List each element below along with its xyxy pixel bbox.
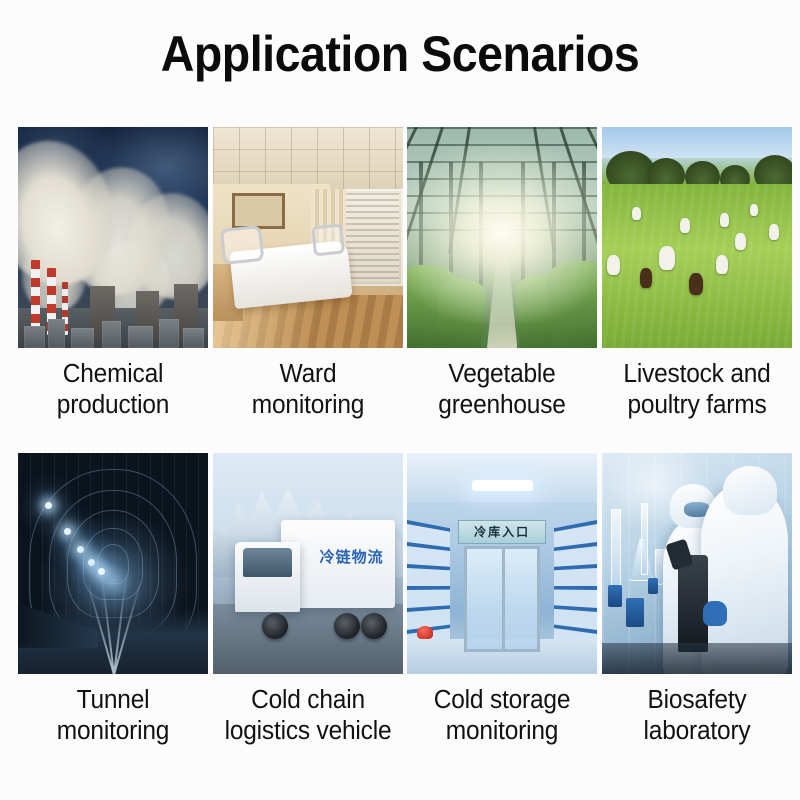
alarm-light [417, 626, 433, 639]
pasture-grass [602, 184, 792, 348]
caption-line-1: Cold chain [216, 685, 398, 716]
cow [607, 255, 620, 275]
scenario-caption: Vegetable greenhouse [411, 359, 593, 421]
truck-body-text: 冷链物流 [320, 546, 384, 567]
glass-tube [641, 503, 648, 575]
cow [680, 218, 690, 233]
caption-line-1: Cold storage [411, 685, 593, 716]
scenario-card-vegetable-greenhouse[interactable]: Vegetable greenhouse [407, 127, 597, 421]
scenario-caption: Tunnel monitoring [22, 685, 204, 747]
protective-hood-front [723, 466, 776, 515]
caption-line-1: Ward [216, 359, 398, 390]
caption-line-2: monitoring [216, 390, 398, 421]
scenario-card-cold-chain-logistics-vehicle[interactable]: 冷链物流 Cold chain logistics vehicle [213, 453, 403, 747]
cow [735, 233, 746, 250]
entrance-sign: 冷库入口 [458, 520, 545, 544]
building [102, 321, 121, 348]
blue-reagent-box [626, 598, 644, 627]
windshield [243, 548, 292, 577]
building [128, 326, 153, 348]
light-glow [407, 143, 597, 323]
caption-line-2: greenhouse [411, 390, 593, 421]
scenario-caption: Livestock and poultry farms [606, 359, 788, 421]
building [24, 326, 45, 348]
lab-bench [602, 643, 792, 674]
scenario-image-cold-storage-monitoring: 冷库入口 [407, 453, 597, 674]
scenario-image-tunnel-monitoring [18, 453, 208, 674]
caption-line-1: Vegetable [411, 359, 593, 390]
building [71, 328, 94, 348]
cow [632, 207, 641, 220]
truck-wheel [361, 613, 387, 639]
ceiling [213, 127, 403, 193]
building [159, 319, 180, 348]
caption-line-2: laboratory [606, 716, 788, 747]
scenario-card-biosafety-laboratory[interactable]: Biosafety laboratory [602, 453, 792, 747]
tunnel-lamp [77, 546, 84, 553]
glove [703, 601, 728, 625]
scenario-image-chemical-production [18, 127, 208, 348]
smokestack [31, 260, 40, 335]
building [183, 328, 204, 348]
glass-doors [464, 546, 540, 652]
caption-line-2: logistics vehicle [216, 716, 398, 747]
tunnel-lamp [45, 502, 52, 509]
scenario-image-biosafety-laboratory [602, 453, 792, 674]
scenario-image-vegetable-greenhouse [407, 127, 597, 348]
ceiling [407, 453, 597, 502]
scenario-card-ward-monitoring[interactable]: Ward monitoring [213, 127, 403, 421]
blue-reagent [608, 585, 622, 608]
cow [750, 204, 758, 216]
cow [659, 246, 675, 270]
page-title: Application Scenarios [28, 28, 772, 81]
microscope [678, 555, 708, 652]
building [48, 319, 65, 348]
application-scenarios-page: Application Scenarios [0, 0, 800, 800]
storage-shelving-right [554, 520, 597, 653]
caption-line-1: Tunnel [22, 685, 204, 716]
truck-wheel [334, 613, 360, 639]
caption-line-1: Biosafety [606, 685, 788, 716]
cow [720, 213, 729, 227]
blue-reagent [648, 578, 658, 594]
scenario-caption: Biosafety laboratory [606, 685, 788, 747]
scenario-image-ward-monitoring [213, 127, 403, 348]
wall-picture [232, 193, 285, 228]
caption-line-1: Livestock and [606, 359, 788, 390]
scenario-grid: Chemical production Ward monitoring [18, 127, 792, 747]
calf [689, 273, 703, 295]
scenario-image-cold-chain-logistics-vehicle: 冷链物流 [213, 453, 403, 674]
caption-line-1: Chemical [22, 359, 204, 390]
ceiling-light [472, 480, 533, 491]
scenario-card-livestock-and-poultry-farms[interactable]: Livestock and poultry farms [602, 127, 792, 421]
scenario-card-chemical-production[interactable]: Chemical production [18, 127, 208, 421]
truck-wheel [262, 613, 288, 639]
caption-line-2: monitoring [411, 716, 593, 747]
tunnel-lamp [98, 568, 105, 575]
entrance-sign-text: 冷库入口 [474, 523, 530, 540]
scenario-caption: Ward monitoring [216, 359, 398, 421]
cow [769, 224, 779, 240]
scenario-card-tunnel-monitoring[interactable]: Tunnel monitoring [18, 453, 208, 747]
caption-line-2: monitoring [22, 716, 204, 747]
scenario-caption: Chemical production [22, 359, 204, 421]
scenario-caption: Cold storage monitoring [411, 685, 593, 747]
caption-line-2: production [22, 390, 204, 421]
tunnel-lamp [64, 528, 71, 535]
scenario-image-livestock-and-poultry-farms [602, 127, 792, 348]
scenario-card-cold-storage-monitoring[interactable]: 冷库入口 Cold storage monitoring [407, 453, 597, 747]
cow [716, 255, 728, 274]
scenario-caption: Cold chain logistics vehicle [216, 685, 398, 747]
calf [640, 268, 652, 288]
caption-line-2: poultry farms [606, 390, 788, 421]
